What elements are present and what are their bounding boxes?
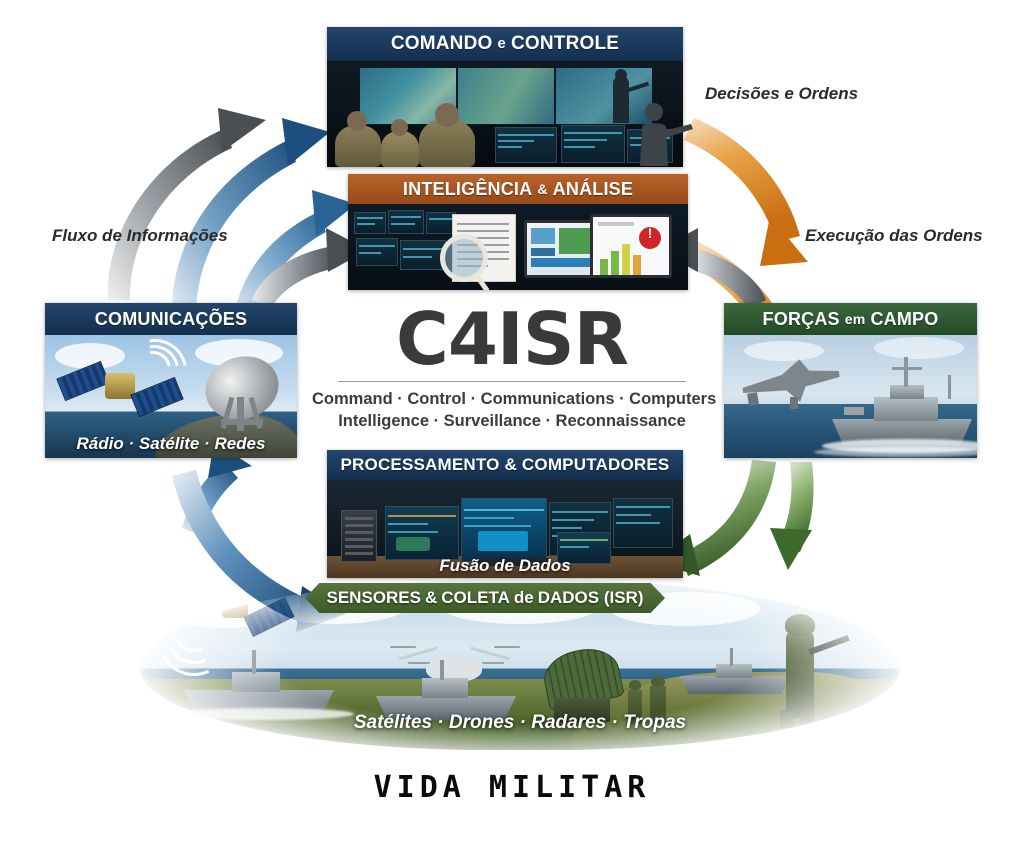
arrow-forces-to-sensors bbox=[770, 462, 814, 570]
brand-wordmark: VIDA MILITAR bbox=[0, 770, 1024, 805]
processing-caption: Fusão de Dados bbox=[327, 556, 683, 576]
command-control-photo bbox=[327, 61, 683, 167]
node-communications[interactable]: COMUNICAÇÕES Rádio · Satélite · Redes bbox=[45, 303, 297, 458]
soldier-icon bbox=[786, 632, 814, 718]
communications-header: COMUNICAÇÕES bbox=[45, 303, 297, 335]
forces-title-main: FORÇAS bbox=[763, 309, 840, 330]
c4isr-center-block: C4ISR Command · Control · Communications… bbox=[312, 305, 712, 433]
flow-label-information: Fluxo de Informações bbox=[52, 226, 228, 246]
node-command-control[interactable]: COMANDO e CONTROLE bbox=[327, 27, 683, 167]
command-control-title-tail: CONTROLE bbox=[511, 33, 619, 55]
intelligence-header: INTELIGÊNCIA & ANÁLISE bbox=[348, 174, 688, 204]
sensors-title-mid: COLETA bbox=[441, 588, 510, 608]
server-tower-icon bbox=[341, 510, 377, 562]
communications-photo: Rádio · Satélite · Redes bbox=[45, 335, 297, 458]
warship-icon-3 bbox=[680, 676, 790, 694]
sensors-caption: Satélites · Drones · Radares · Tropas bbox=[140, 712, 900, 734]
processing-header: PROCESSAMENTO & COMPUTADORES bbox=[327, 450, 683, 480]
intelligence-title-tail: ANÁLISE bbox=[553, 179, 633, 200]
sensors-header: SENSORES & COLETA de DADOS (ISR) bbox=[305, 583, 665, 613]
c4isr-acronym: C4ISR bbox=[312, 305, 712, 373]
command-control-title-main: COMANDO bbox=[391, 33, 493, 55]
arrow-decisions-orders bbox=[684, 118, 808, 266]
sensors-title-tail: DADOS (ISR) bbox=[538, 588, 644, 608]
forces-header: FORÇAS em CAMPO bbox=[724, 303, 977, 335]
sensors-title-amp: & bbox=[425, 588, 437, 608]
forces-title-tail: CAMPO bbox=[870, 309, 938, 330]
forces-photo bbox=[724, 335, 977, 458]
decision-maker-silhouette-icon bbox=[632, 100, 694, 166]
forces-title-small: em bbox=[845, 311, 866, 327]
command-control-header: COMANDO e CONTROLE bbox=[327, 27, 683, 61]
infographic-canvas: Fluxo de Informações Decisões e Ordens E… bbox=[0, 0, 1024, 841]
intelligence-photo bbox=[348, 204, 688, 290]
intelligence-title-main: INTELIGÊNCIA bbox=[403, 179, 532, 200]
sensors-title-de: de bbox=[514, 588, 534, 608]
c4isr-expansion-line-1: Command · Control · Communications · Com… bbox=[312, 389, 712, 411]
node-intelligence-analysis[interactable]: INTELIGÊNCIA & ANÁLISE bbox=[348, 174, 688, 290]
flow-label-execution: Execução das Ordens bbox=[805, 226, 983, 246]
node-processing-computers[interactable]: PROCESSAMENTO & COMPUTADORES bbox=[327, 450, 683, 578]
flow-label-decisions: Decisões e Ordens bbox=[705, 84, 858, 104]
magnifier-icon bbox=[440, 234, 488, 282]
c4isr-divider bbox=[338, 381, 686, 382]
node-forces-in-field[interactable]: FORÇAS em CAMPO bbox=[724, 303, 977, 458]
sensors-title-main: SENSORES bbox=[326, 588, 420, 608]
processing-title: PROCESSAMENTO & COMPUTADORES bbox=[341, 455, 670, 475]
processing-photo: Fusão de Dados bbox=[327, 480, 683, 578]
c4isr-expansion-line-2: Intelligence · Surveillance · Reconnaiss… bbox=[312, 411, 712, 433]
communications-title: COMUNICAÇÕES bbox=[95, 309, 247, 330]
communications-caption: Rádio · Satélite · Redes bbox=[45, 434, 297, 454]
command-control-title-small: e bbox=[498, 36, 506, 52]
intelligence-title-small: & bbox=[537, 181, 547, 197]
